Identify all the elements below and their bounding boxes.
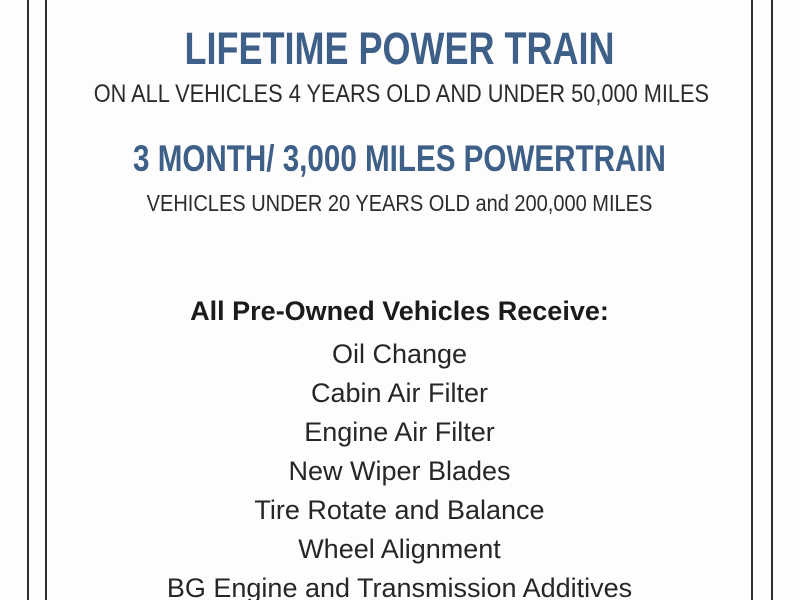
- included-services-section: All Pre-Owned Vehicles Receive: Oil Chan…: [48, 298, 751, 600]
- border-rule-right-outer: [771, 0, 773, 600]
- three-month-powertrain-subtitle: VEHICLES UNDER 20 YEARS OLD and 200,000 …: [94, 192, 706, 215]
- service-item: BG Engine and Transmission Additives: [48, 575, 751, 600]
- service-item: Oil Change: [48, 341, 751, 368]
- lifetime-powertrain-subtitle: ON ALL VEHICLES 4 YEARS OLD AND UNDER 50…: [94, 82, 706, 107]
- lifetime-powertrain-heading: LIFETIME POWER TRAIN: [118, 26, 680, 71]
- border-rule-left-inner: [45, 0, 47, 600]
- service-item: Cabin Air Filter: [48, 380, 751, 407]
- included-services-heading: All Pre-Owned Vehicles Receive:: [48, 298, 751, 325]
- service-item: Wheel Alignment: [48, 536, 751, 563]
- three-month-powertrain-heading: 3 MONTH/ 3,000 MILES POWERTRAIN: [118, 140, 680, 177]
- service-item: Tire Rotate and Balance: [48, 497, 751, 524]
- warranty-flyer: LIFETIME POWER TRAIN ON ALL VEHICLES 4 Y…: [0, 0, 800, 600]
- service-item: Engine Air Filter: [48, 419, 751, 446]
- border-rule-left-outer: [27, 0, 29, 600]
- border-rule-right-inner: [751, 0, 753, 600]
- flyer-content: LIFETIME POWER TRAIN ON ALL VEHICLES 4 Y…: [48, 0, 751, 600]
- included-services-list: Oil ChangeCabin Air FilterEngine Air Fil…: [48, 341, 751, 600]
- service-item: New Wiper Blades: [48, 458, 751, 485]
